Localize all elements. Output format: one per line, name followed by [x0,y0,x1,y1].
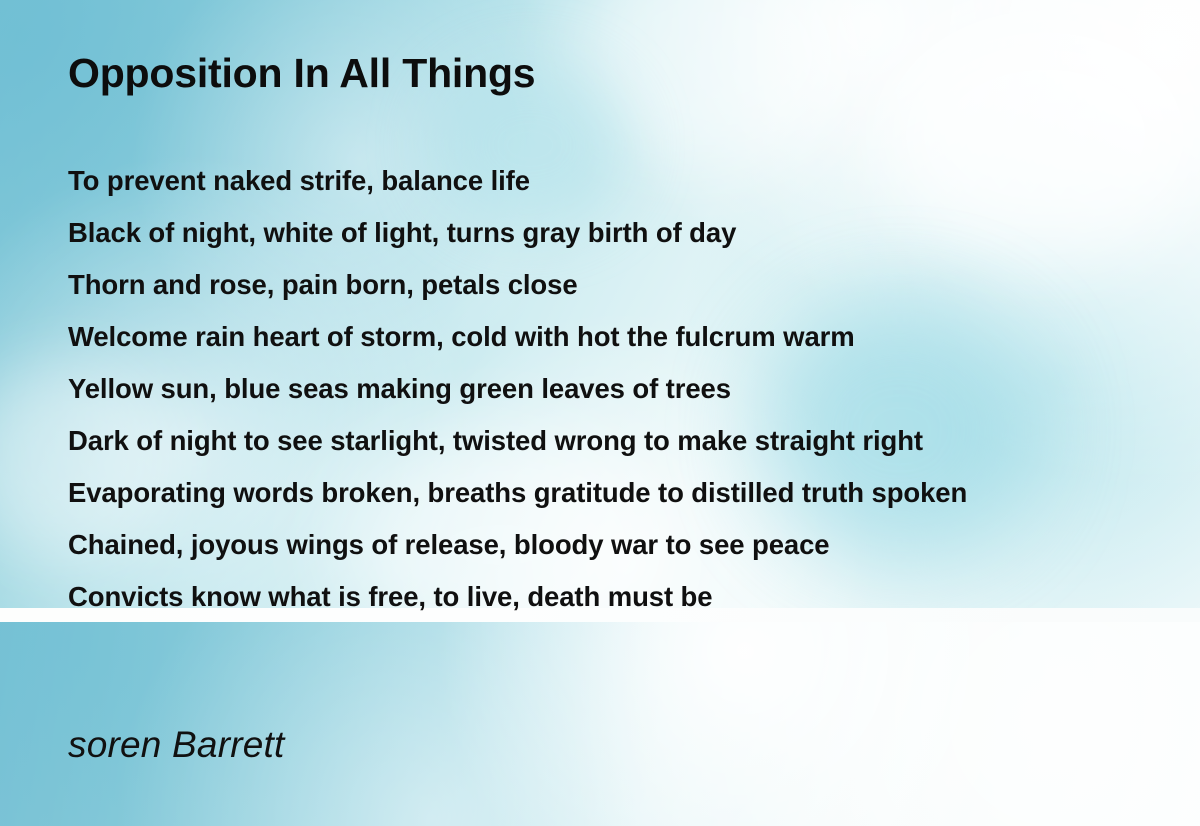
poem-line: Dark of night to see starlight, twisted … [68,415,967,467]
poem-line: Yellow sun, blue seas making green leave… [68,363,967,415]
poem-line: Chained, joyous wings of release, bloody… [68,519,967,571]
poem-line: Evaporating words broken, breaths gratit… [68,467,967,519]
page-title: Opposition In All Things [68,52,535,95]
poem-body: To prevent naked strife, balance life Bl… [68,155,967,623]
poem-line: Convicts know what is free, to live, dea… [68,571,967,623]
bokeh-blob-icon [560,0,860,170]
poem-line: Thorn and rose, pain born, petals close [68,259,967,311]
poem-card: Opposition In All Things To prevent nake… [0,0,1200,826]
poem-line: Welcome rain heart of storm, cold with h… [68,311,967,363]
poem-line: To prevent naked strife, balance life [68,155,967,207]
author-byline: soren Barrett [68,724,284,766]
poem-line: Black of night, white of light, turns gr… [68,207,967,259]
